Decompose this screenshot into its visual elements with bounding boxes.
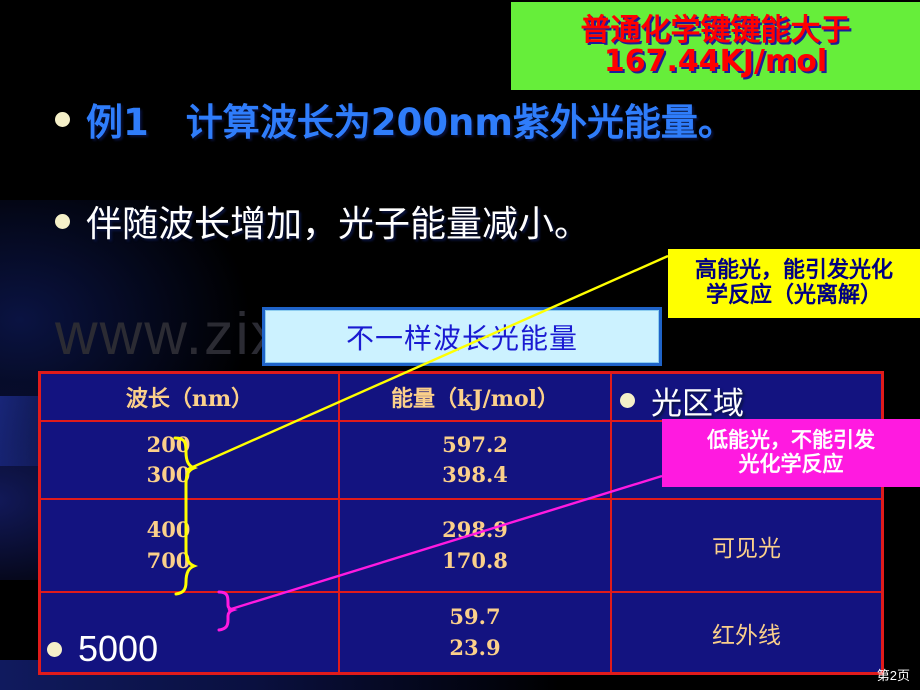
table-cell-energy: 597.2 398.4 [338, 422, 612, 498]
table-header-zone-label: 光区域 [651, 378, 744, 423]
wavelength-stack: 400 700 [147, 515, 191, 576]
table-cell-wavelength: 200 300 [41, 422, 338, 498]
bullet-item-2: 伴随波长增加，光子能量减小。 [55, 195, 590, 247]
low-energy-callout-line1: 低能光，不能引发 [707, 429, 875, 453]
page-number: 第2页 [877, 665, 910, 684]
table-row: 5000 59.7 23.9 红外线 [41, 591, 881, 672]
table-header-wavelength-label: 波长（nm） [126, 381, 253, 413]
header-callout-line2: 167.44KJ/mol [604, 46, 827, 77]
bullet-item-1-label: 例1 计算波长为200nm紫外光能量。 [86, 92, 735, 146]
table-cell-wavelength: 400 700 [41, 500, 338, 591]
wavelength-value: 300 [147, 460, 191, 490]
table-row: 400 700 298.9 170.8 可见光 [41, 498, 881, 591]
high-energy-callout-line2: 学反应（光离解） [706, 284, 882, 309]
zone-header-bullet: 光区域 [620, 378, 744, 423]
wavelength-stack: 200 300 [147, 430, 191, 491]
bullet-dot-icon [55, 112, 70, 127]
wavelength-value: 400 [147, 515, 191, 545]
high-energy-callout: 高能光，能引发光化 学反应（光离解） [668, 249, 920, 318]
header-callout-line1: 普通化学键键能大于 [581, 15, 851, 46]
wavelength-value: 5000 [78, 628, 158, 670]
bullet-item-1: 例1 计算波长为200nm紫外光能量。 [55, 92, 735, 146]
table-header-energy: 能量（kJ/mol） [338, 374, 612, 420]
energy-stack: 298.9 170.8 [442, 515, 508, 576]
wavelength-value: 200 [147, 430, 191, 460]
wavelength-value: 700 [147, 546, 191, 576]
table-header-row: 波长（nm） 能量（kJ/mol） 光区域 [41, 374, 881, 420]
slide-canvas: www.zixin.com.cn 普通化学键键能大于 167.44KJ/mol … [0, 0, 920, 690]
low-energy-callout-line2: 光化学反应 [739, 453, 844, 477]
table-header-wavelength: 波长（nm） [41, 374, 338, 420]
energy-value: 298.9 [442, 515, 508, 545]
wavelength-bullet-5000: 5000 [47, 628, 158, 670]
header-callout-box: 普通化学键键能大于 167.44KJ/mol [511, 2, 920, 90]
bullet-item-2-label: 伴随波长增加，光子能量减小。 [86, 195, 590, 247]
table-cell-energy: 59.7 23.9 [338, 593, 612, 672]
energy-stack: 59.7 23.9 [449, 602, 500, 663]
energy-value: 59.7 [449, 602, 500, 632]
table-cell-zone: 可见光 [612, 500, 881, 591]
bullet-dot-icon [55, 214, 70, 229]
zone-value: 红外线 [712, 616, 781, 650]
table-header-zone: 光区域 [612, 374, 881, 420]
high-energy-callout-line1: 高能光，能引发光化 [695, 259, 893, 284]
energy-value: 597.2 [442, 430, 508, 460]
zone-value: 可见光 [712, 529, 781, 563]
energy-value: 398.4 [442, 460, 508, 490]
table-title-box: 不一样波长光能量 [262, 307, 662, 366]
table-header-energy-label: 能量（kJ/mol） [391, 381, 559, 413]
bullet-dot-icon [47, 642, 62, 657]
low-energy-callout: 低能光，不能引发 光化学反应 [662, 419, 920, 487]
energy-value: 170.8 [442, 546, 508, 576]
energy-table: 波长（nm） 能量（kJ/mol） 光区域 200 300 [38, 371, 884, 675]
energy-stack: 597.2 398.4 [442, 430, 508, 491]
table-title-label: 不一样波长光能量 [346, 317, 578, 357]
bullet-dot-icon [620, 393, 635, 408]
table-cell-zone: 红外线 [612, 593, 881, 672]
energy-value: 23.9 [449, 633, 500, 663]
table-cell-wavelength: 5000 [41, 593, 338, 672]
table-cell-energy: 298.9 170.8 [338, 500, 612, 591]
